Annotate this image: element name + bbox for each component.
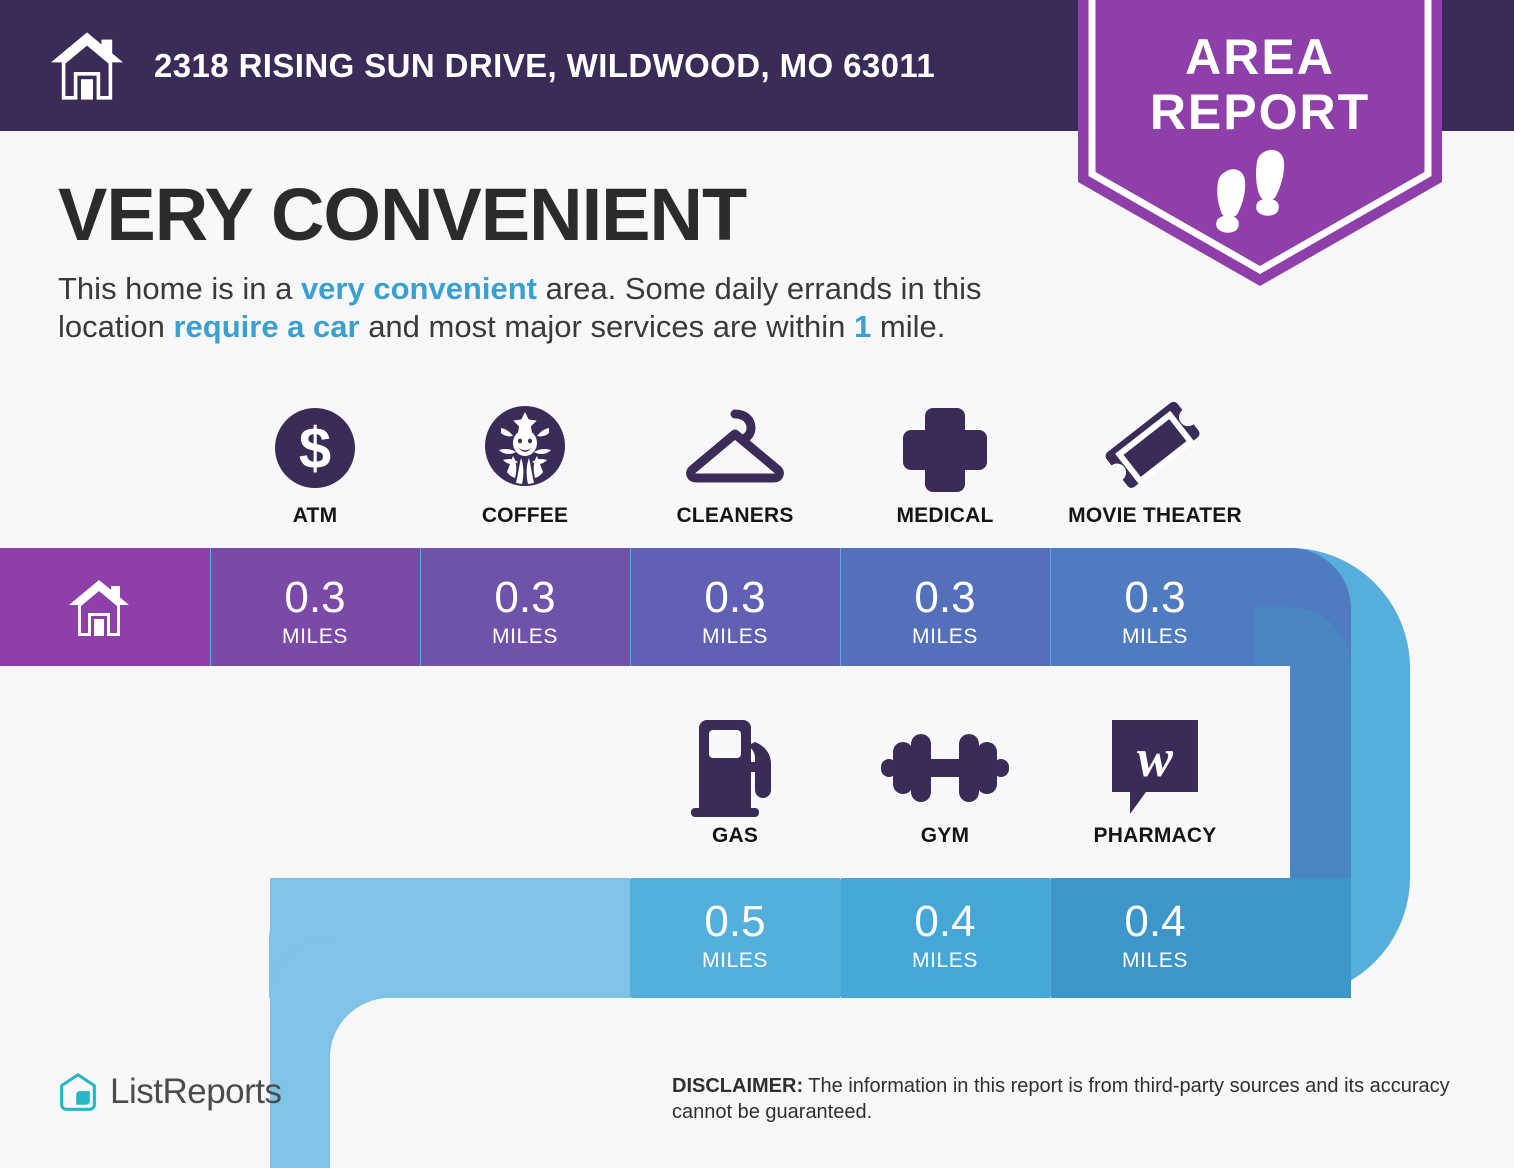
amenity-cleaners[interactable]: CLEANERS — [630, 396, 840, 546]
badge-line2: REPORT — [1150, 84, 1370, 140]
badge-line1: AREA — [1185, 29, 1335, 85]
page-title: VERY CONVENIENT — [58, 178, 746, 252]
area-report-page: 2318 RISING SUN DRIVE, WILDWOOD, MO 6301… — [0, 0, 1514, 1168]
amenity-label: MOVIE THEATER — [1068, 504, 1242, 528]
summary-highlight-1: very convenient — [301, 271, 537, 306]
disclaimer-label: DISCLAIMER: — [672, 1075, 803, 1097]
svg-text:$: $ — [299, 416, 331, 481]
amenity-label: CLEANERS — [676, 504, 793, 528]
gas-pump-icon — [685, 716, 785, 820]
summary-text-3: and most major services are within — [360, 309, 854, 344]
amenity-label: MEDICAL — [896, 504, 993, 528]
summary-highlight-2: require a car — [173, 309, 359, 344]
dumbbell-icon — [881, 716, 1009, 820]
amenity-label: GAS — [712, 824, 758, 848]
amenity-movie-theater[interactable]: MOVIE THEATER — [1050, 396, 1260, 546]
amenity-row-top: $ ATM — [0, 396, 1514, 546]
amenity-coffee[interactable]: COFFEE — [420, 396, 630, 546]
summary-text-1: This home is in a — [58, 271, 301, 306]
summary-paragraph: This home is in a very convenient area. … — [58, 270, 1068, 346]
dollar-circle-icon: $ — [273, 396, 357, 500]
walgreens-w-icon: w — [1108, 716, 1202, 820]
starbucks-siren-icon — [479, 396, 571, 500]
amenity-atm[interactable]: $ ATM — [210, 396, 420, 546]
amenity-label: PHARMACY — [1094, 824, 1217, 848]
movie-ticket-icon — [1103, 396, 1207, 500]
summary-text-4: mile. — [871, 309, 945, 344]
amenity-gas[interactable]: GAS — [630, 716, 840, 868]
amenity-row-bottom: GAS GYM — [0, 716, 1514, 868]
listreports-wordmark: ListReports — [110, 1072, 282, 1112]
listreports-logo[interactable]: ListReports — [58, 1072, 282, 1112]
listreports-house-icon — [58, 1072, 98, 1112]
disclaimer: DISCLAIMER: The information in this repo… — [672, 1074, 1462, 1125]
svg-text:w: w — [1137, 728, 1174, 788]
amenity-label: GYM — [921, 824, 969, 848]
medical-cross-icon — [899, 396, 991, 500]
amenity-label: ATM — [293, 504, 338, 528]
home-icon — [48, 30, 126, 102]
amenity-pharmacy[interactable]: w PHARMACY — [1050, 716, 1260, 868]
amenity-label: COFFEE — [482, 504, 568, 528]
property-address: 2318 RISING SUN DRIVE, WILDWOOD, MO 6301… — [154, 47, 935, 85]
amenity-gym[interactable]: GYM — [840, 716, 1050, 868]
area-report-badge: AREA REPORT — [1078, 0, 1442, 296]
summary-highlight-3: 1 — [854, 309, 871, 344]
amenity-medical[interactable]: MEDICAL — [840, 396, 1050, 546]
clothes-hanger-icon — [680, 396, 790, 500]
